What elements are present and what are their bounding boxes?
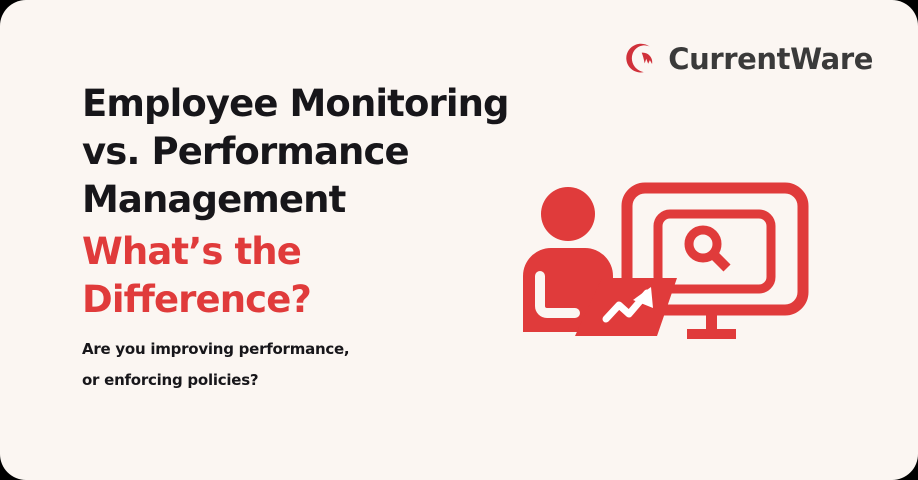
magnifying-glass-icon	[689, 230, 727, 268]
page-title: Employee Monitoring vs. Performance Mana…	[82, 80, 512, 224]
person-head-circle	[541, 187, 595, 241]
logo-wordmark: CurrentWare	[668, 45, 873, 74]
hero-illustration	[505, 172, 825, 352]
monitor-base	[687, 329, 736, 339]
employee-at-monitor-illustration	[505, 172, 825, 352]
subheading: What’s the Difference?	[82, 228, 512, 324]
copy-block: Employee Monitoring vs. Performance Mana…	[82, 80, 512, 396]
currentware-logo[interactable]: CurrentWare	[621, 40, 873, 78]
tagline: Are you improving performance, or enforc…	[82, 334, 512, 396]
monitor-stand	[706, 310, 717, 332]
currentware-c-logo-icon	[621, 40, 659, 78]
promo-banner: CurrentWare Employee Monitoring vs. Perf…	[0, 0, 918, 480]
